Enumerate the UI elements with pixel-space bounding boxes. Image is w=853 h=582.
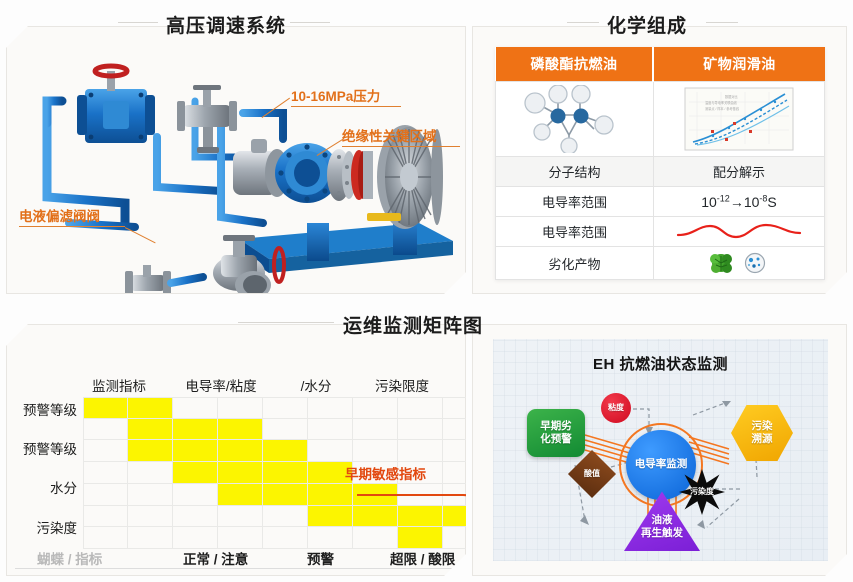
- formula-arrow: →: [730, 194, 744, 210]
- eh-node-center-label: 电导率监测: [635, 458, 688, 471]
- eh-node-oil-regen-label: 油液再生触发: [641, 514, 683, 540]
- eh-node-acid-value-label: 酸值: [584, 469, 600, 479]
- matrix-cell[interactable]: [353, 397, 398, 419]
- component-plot: 数据对比 温度与导电率关联曲线 测量点 / 样本 / 参考基线: [654, 84, 824, 154]
- matrix-cell[interactable]: [83, 506, 128, 528]
- matrix-cell[interactable]: [83, 527, 128, 549]
- eh-node-pollution-trace-label: 污染溯源: [752, 420, 773, 446]
- formula-unit: S: [767, 194, 776, 210]
- matrix-cell[interactable]: [218, 484, 263, 506]
- annotation-servo-underline: [19, 226, 125, 227]
- matrix-cell[interactable]: [218, 440, 263, 462]
- chem-title-rule-right: [706, 22, 738, 23]
- matrix-col-header-0: 监测指标: [77, 375, 161, 395]
- matrix-cell[interactable]: [128, 397, 173, 419]
- formula-base-2: 10: [744, 194, 760, 210]
- matrix-cell[interactable]: [128, 419, 173, 441]
- chem-col-header-1: 矿物润滑油: [653, 47, 824, 82]
- chem-table-header-row: 磷酸酯抗燃油 矿物润滑油: [496, 47, 825, 82]
- matrix-cell[interactable]: [83, 440, 128, 462]
- eh-node-center[interactable]: 电导率监测: [626, 430, 696, 500]
- matrix-col-header-2: /水分: [281, 375, 351, 395]
- matrix-cell[interactable]: [398, 419, 443, 441]
- matrix-axis-label-1: 正常 / 注意: [183, 548, 248, 568]
- machine-panel: 10-16MPa压力 绝缘性关键区域 电液偏滤阀阀: [6, 26, 466, 294]
- matrix-cell[interactable]: [173, 419, 218, 441]
- chem-row-label-1: 电导率范围: [496, 187, 654, 217]
- eh-node-early-warning-label: 早期劣化预警: [540, 420, 572, 446]
- molecule-cell: [496, 82, 654, 157]
- annotation-insulation-underline: [342, 146, 460, 147]
- matrix-cell[interactable]: [263, 397, 308, 419]
- matrix-axis-label-2: 预警: [307, 548, 334, 568]
- machine-panel-title: 高压调速系统: [166, 11, 286, 38]
- chem-row-value-0: 配分解示: [653, 157, 824, 187]
- title-rule-left: [118, 22, 158, 23]
- matrix-cell[interactable]: [128, 462, 173, 484]
- chem-row-label-0: 分子结构: [496, 157, 654, 187]
- chem-row-value-3: [653, 247, 824, 280]
- chem-row-structure: 分子结构 配分解示: [496, 157, 825, 187]
- eh-node-viscosity[interactable]: 粘度: [601, 393, 631, 423]
- matrix-cell[interactable]: [128, 506, 173, 528]
- matrix-cell[interactable]: [398, 440, 443, 462]
- matrix-cell[interactable]: [353, 419, 398, 441]
- matrix-cell[interactable]: [128, 527, 173, 549]
- machine-svg: [7, 27, 465, 293]
- particle-dish-icon: [745, 254, 764, 273]
- matrix-cell[interactable]: [83, 419, 128, 441]
- matrix-cell[interactable]: [83, 397, 128, 419]
- matrix-cell[interactable]: [173, 397, 218, 419]
- matrix-cell[interactable]: [263, 506, 308, 528]
- matrix-row-header-3: 污染度: [15, 517, 77, 537]
- matrix-cell[interactable]: [128, 484, 173, 506]
- matrix-axis-divider: [15, 568, 467, 569]
- matrix-annotation-label: 早期敏感指标: [345, 463, 426, 483]
- matrix-cell[interactable]: [173, 527, 218, 549]
- conductivity-formula: 10-12→10-8S: [701, 194, 777, 210]
- matrix-cell[interactable]: [83, 462, 128, 484]
- eh-node-early-warning[interactable]: 早期劣化预警: [527, 409, 585, 457]
- svg-text:测量点 / 样本 / 参考基线: 测量点 / 样本 / 参考基线: [705, 106, 740, 111]
- eh-node-contamination[interactable]: 污染度: [679, 469, 725, 515]
- matrix-cell[interactable]: [218, 527, 263, 549]
- wave-icon: [674, 223, 804, 241]
- matrix-cell[interactable]: [263, 527, 308, 549]
- chem-row-value-2: [653, 217, 824, 247]
- leaf-cluster-icon: [710, 254, 732, 273]
- chem-panel-title: 化学组成: [607, 11, 687, 38]
- matrix-cell[interactable]: [263, 419, 308, 441]
- component-plot-svg: 数据对比 温度与导电率关联曲线 测量点 / 样本 / 参考基线: [683, 86, 795, 152]
- matrix-cell[interactable]: [173, 484, 218, 506]
- annotation-pressure: 10-16MPa压力: [291, 85, 380, 105]
- degradation-icons: [705, 252, 773, 274]
- infographic-board: 高压调速系统: [0, 0, 853, 582]
- eh-panel: EH 抗燃油状态监测: [472, 324, 847, 576]
- matrix-cell[interactable]: [173, 440, 218, 462]
- molecule-diagram: [496, 84, 653, 154]
- matrix-axis-label-0: 蝴蝶 / 指标: [37, 548, 102, 568]
- chem-visual-row: 数据对比 温度与导电率关联曲线 测量点 / 样本 / 参考基线: [496, 82, 825, 157]
- matrix-cell[interactable]: [83, 484, 128, 506]
- matrix-col-header-1: 电导率/粘度: [169, 375, 273, 395]
- matrix-cell[interactable]: [173, 462, 218, 484]
- eh-node-viscosity-label: 粘度: [608, 403, 624, 413]
- title-rule-right: [290, 22, 330, 23]
- svg-text:数据对比: 数据对比: [725, 94, 738, 99]
- svg-text:温度与导电率关联曲线: 温度与导电率关联曲线: [705, 100, 738, 105]
- matrix-cell[interactable]: [263, 440, 308, 462]
- formula-exp-1: -12: [717, 193, 730, 203]
- matrix-row-header-1: 预警等级: [15, 438, 77, 458]
- matrix-panel-title: 运维监测矩阵图: [343, 311, 483, 338]
- chem-row-value-1: 10-12→10-8S: [653, 187, 824, 217]
- matrix-cell[interactable]: [308, 419, 353, 441]
- molecule-svg: [514, 85, 634, 153]
- chem-row-label-2: 电导率范围: [496, 217, 654, 247]
- annotation-pressure-underline: [291, 106, 401, 107]
- matrix-cell[interactable]: [218, 462, 263, 484]
- matrix-cell[interactable]: [308, 440, 353, 462]
- matrix-cell[interactable]: [308, 527, 353, 549]
- matrix-row-header-0: 预警等级: [15, 399, 77, 419]
- matrix-cell[interactable]: [218, 419, 263, 441]
- machine-illustration: [7, 27, 465, 293]
- matrix-col-header-3: 污染限度: [357, 375, 447, 395]
- matrix-cell[interactable]: [353, 440, 398, 462]
- chem-row-conductivity-1: 电导率范围 10-12→10-8S: [496, 187, 825, 217]
- chem-row-degradation: 劣化产物: [496, 247, 825, 280]
- chem-col-header-0: 磷酸酯抗燃油: [496, 47, 654, 82]
- chem-row-label-3: 劣化产物: [496, 247, 654, 280]
- matrix-panel: 监测指标 电导率/粘度 /水分 污染限度 预警等级 预警等级 水分 污染度 早期…: [6, 324, 466, 576]
- eh-diagram: EH 抗燃油状态监测: [493, 339, 828, 561]
- matrix-cell[interactable]: [218, 506, 263, 528]
- formula-base-1: 10: [701, 194, 717, 210]
- chem-row-conductivity-2: 电导率范围: [496, 217, 825, 247]
- matrix-cell[interactable]: [173, 506, 218, 528]
- matrix-cell[interactable]: [263, 484, 308, 506]
- component-plot-cell: 数据对比 温度与导电率关联曲线 测量点 / 样本 / 参考基线: [653, 82, 824, 157]
- matrix-cell[interactable]: [308, 506, 353, 528]
- matrix-cell[interactable]: [263, 462, 308, 484]
- chem-title-rule-left: [567, 22, 599, 23]
- matrix-cell[interactable]: [398, 397, 443, 419]
- matrix-cell[interactable]: [128, 440, 173, 462]
- matrix-title-rule-left: [238, 322, 334, 323]
- annotation-servo-valve: 电液偏滤阀阀: [19, 205, 100, 225]
- chem-panel: 磷酸酯抗燃油 矿物润滑油: [472, 26, 847, 294]
- matrix-cell[interactable]: [218, 397, 263, 419]
- annotation-insulation: 绝缘性关键区域: [342, 125, 437, 145]
- eh-node-contamination-label: 污染度: [690, 487, 714, 497]
- matrix-row-header-2: 水分: [15, 477, 77, 497]
- matrix-cell[interactable]: [308, 484, 353, 506]
- chem-comparison-table: 磷酸酯抗燃油 矿物润滑油: [495, 47, 825, 280]
- matrix-cell[interactable]: [308, 397, 353, 419]
